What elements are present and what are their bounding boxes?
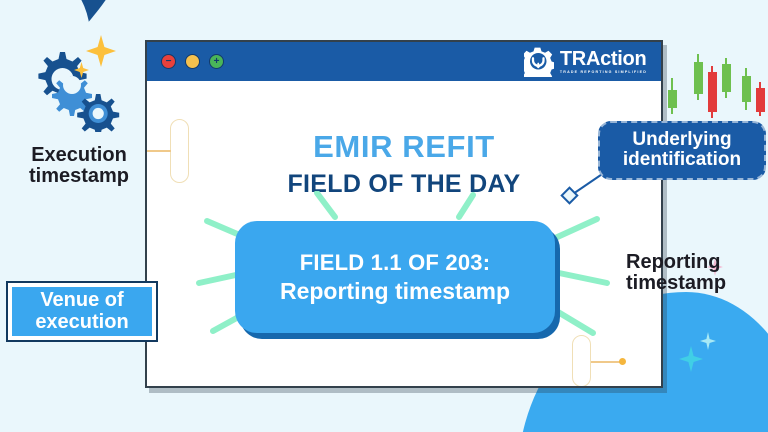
- sparkle-icon: [700, 332, 716, 350]
- left-pill-marker: [170, 119, 189, 183]
- browser-window: − + TRAction TRADE REPORTING SIMPLIFIED: [145, 40, 663, 388]
- callout-venue-label: Venue of execution: [12, 287, 152, 336]
- window-titlebar: − + TRAction TRADE REPORTING SIMPLIFIED: [147, 42, 661, 81]
- left-connector-line: [147, 150, 171, 152]
- gear-logo-icon: [524, 47, 554, 77]
- field-card-line-1: FIELD 1.1 OF 203:: [300, 250, 490, 276]
- brand-tagline: TRADE REPORTING SIMPLIFIED: [560, 71, 647, 75]
- maximize-icon: +: [214, 57, 220, 67]
- callout-execution-timestamp[interactable]: Execution timestamp: [8, 145, 150, 187]
- window-viewport: EMIR REFIT FIELD OF THE DAY FIELD 1.1 OF…: [147, 81, 661, 386]
- page-title-primary: EMIR REFIT: [147, 129, 661, 165]
- close-button[interactable]: −: [161, 54, 176, 69]
- callout-underlying-identification[interactable]: Underlying identification: [598, 121, 766, 180]
- callout-reporting-timestamp[interactable]: Reporting timestamp: [626, 252, 762, 294]
- sparkle-icon: [74, 62, 89, 78]
- brand-name: TRAction: [560, 49, 647, 69]
- window-controls: − +: [161, 54, 224, 69]
- sparkle-icon: [86, 35, 116, 67]
- brand-logo[interactable]: TRAction TRADE REPORTING SIMPLIFIED: [524, 47, 647, 77]
- field-of-the-day-card: FIELD 1.1 OF 203: Reporting timestamp: [235, 221, 555, 333]
- close-icon: −: [166, 57, 172, 67]
- callout-venue-of-execution[interactable]: Venue of execution: [6, 281, 158, 342]
- field-card-line-2: Reporting timestamp: [280, 279, 510, 304]
- minimize-button[interactable]: [185, 54, 200, 69]
- maximize-button[interactable]: +: [209, 54, 224, 69]
